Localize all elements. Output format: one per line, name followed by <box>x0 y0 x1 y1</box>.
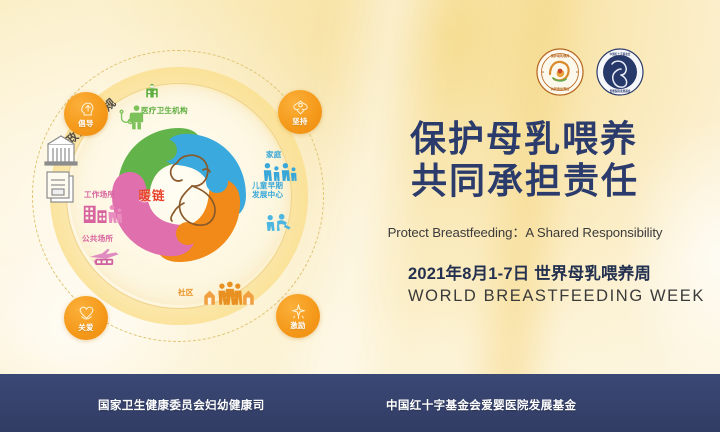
sector-label-family: 家庭 <box>266 150 282 159</box>
warm-chain-infographic: 暖链 政策、法规 <box>26 44 332 348</box>
badge-care[interactable]: 关爱 <box>64 296 108 340</box>
headline-line-2: 共同承担责任 <box>411 160 700 202</box>
badge-advocacy[interactable]: 倡导 <box>64 92 108 136</box>
subtitle-english: Protect Breastfeeding：A Shared Responsib… <box>350 222 700 241</box>
nurse-stethoscope-icon <box>118 102 148 132</box>
footer-org-2: 中国红十字基金会爱婴医院发展基金 <box>386 397 576 413</box>
megaphone-head-icon <box>77 100 96 119</box>
family-icon <box>262 161 298 183</box>
svg-text:中国红十字基金会: 中国红十字基金会 <box>610 52 631 56</box>
sector-label-public: 公共场所 <box>82 234 113 243</box>
date-line: 2021年8月1-7日 世界母乳喂养周 <box>408 260 686 284</box>
headline-line-1: 保护母乳喂养 <box>410 118 700 160</box>
helping-hands-icon <box>291 98 310 117</box>
heart-hands-icon <box>77 304 96 323</box>
hospital-icon <box>143 82 161 100</box>
svg-text:爱婴医院发展基金: 爱婴医院发展基金 <box>609 89 631 93</box>
badge-label: 倡导 <box>78 120 93 127</box>
sector-label-medical: 医疗卫生机构 <box>141 106 188 115</box>
week-line-english: WORLD BREASTFEEDING WEEK <box>408 287 686 306</box>
transport-icon <box>88 246 124 266</box>
star-burst-icon <box>289 302 308 321</box>
organization-logos: 保护母乳喂养 共同承担责任 中国红十字基金会 爱婴医院发展基金 <box>536 48 644 96</box>
svg-text:保护母乳喂养: 保护母乳喂养 <box>550 53 570 58</box>
badge-label: 坚持 <box>292 118 307 125</box>
child-development-icon <box>264 212 294 232</box>
sector-label-ecd: 儿童早期 发展中心 <box>252 181 283 200</box>
policy-icon-group <box>40 130 86 212</box>
center-label: 暖链 <box>124 185 180 204</box>
sector-label-community: 社区 <box>178 288 194 297</box>
badge-incentive[interactable]: 激励 <box>276 294 320 338</box>
svg-text:共同承担责任: 共同承担责任 <box>551 86 570 91</box>
badge-label: 关爱 <box>78 324 93 331</box>
footer-bar: 国家卫生健康委员会妇幼健康司 中国红十字基金会爱婴医院发展基金 <box>0 374 720 432</box>
badge-label: 激励 <box>290 322 305 329</box>
community-houses-icon <box>202 280 256 310</box>
headline-block: 保护母乳喂养 共同承担责任 <box>410 118 700 202</box>
footer-org-1: 国家卫生健康委员会妇幼健康司 <box>98 397 265 413</box>
office-building-icon <box>82 202 122 224</box>
baby-friendly-hospital-seal: 中国红十字基金会 爱婴医院发展基金 <box>596 48 644 96</box>
badge-persistence[interactable]: 坚持 <box>278 90 322 134</box>
breastfeeding-protection-seal: 保护母乳喂养 共同承担责任 <box>536 48 584 96</box>
sector-label-workplace: 工作场所 <box>84 190 115 199</box>
poster-canvas: 暖链 政策、法规 <box>0 0 720 432</box>
